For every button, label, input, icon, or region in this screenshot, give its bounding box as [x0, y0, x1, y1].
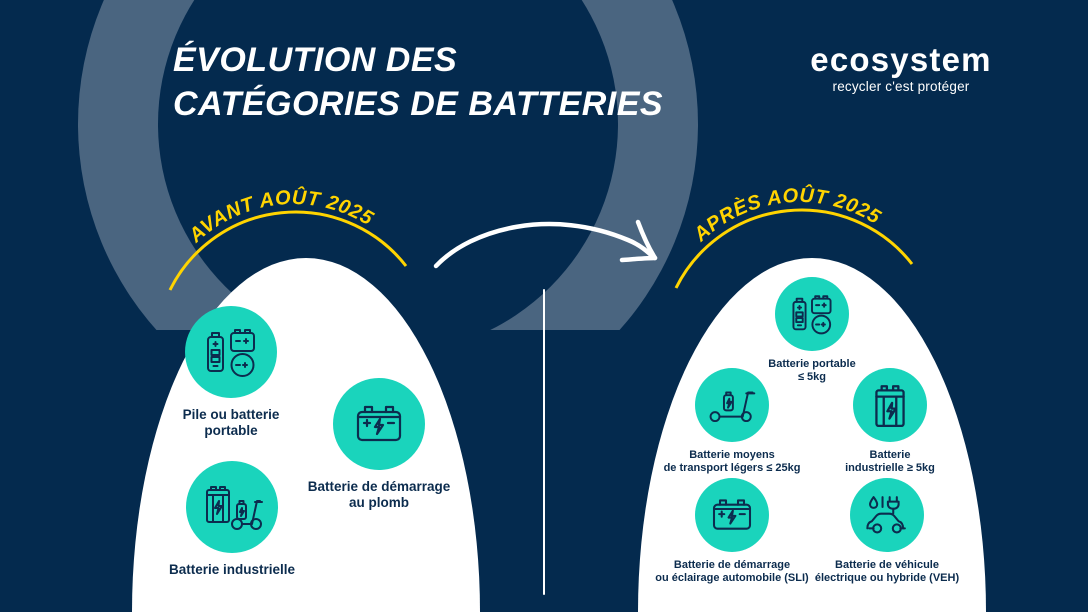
- category-label-line-2: portable: [163, 423, 299, 439]
- arc-label-before: AVANT AOÛT 2025: [156, 208, 456, 288]
- category-batterie-transport-leger: Batterie moyens de transport légers ≤ 25…: [654, 368, 810, 476]
- infographic-canvas: ÉVOLUTION DES CATÉGORIES DE BATTERIES ec…: [0, 0, 1088, 612]
- category-label-line-1: Batterie: [830, 449, 950, 462]
- category-pile-batterie-portable: Pile ou batterie portable: [163, 306, 299, 440]
- category-batterie-industrielle: Batterie industrielle: [152, 461, 312, 578]
- vertical-divider: [543, 289, 545, 595]
- category-label: Batterie moyens de transport légers ≤ 25…: [654, 449, 810, 476]
- category-label: Batterie de démarrage ou éclairage autom…: [652, 559, 812, 586]
- category-label-line-1: Batterie industrielle: [152, 562, 312, 578]
- category-label-line-2-prefix: électrique ou hybride: [815, 572, 929, 584]
- category-label-line-2-prefix: ou éclairage automobile: [655, 572, 784, 584]
- category-label: Pile ou batterie portable: [163, 407, 299, 440]
- industrial-battery-scooter-icon: [186, 461, 278, 553]
- category-label-line-1: Batterie de véhicule: [812, 559, 962, 572]
- brand-logo: ecosystem recycler c'est protéger: [786, 42, 1016, 96]
- page-title: ÉVOLUTION DES CATÉGORIES DE BATTERIES: [173, 38, 733, 126]
- portable-battery-icon: [185, 306, 277, 398]
- category-label-line-1: Batterie de démarrage: [288, 479, 470, 495]
- category-label-line-1: Pile ou batterie: [163, 407, 299, 423]
- car-battery-icon: [695, 478, 769, 552]
- category-label-line-2-bold: (VEH): [929, 572, 959, 584]
- title-line-2: CATÉGORIES DE BATTERIES: [173, 82, 733, 126]
- category-batterie-demarrage-plomb: Batterie de démarrage au plomb: [288, 378, 470, 512]
- category-label-line-2-bold: (SLI): [784, 572, 808, 584]
- title-line-1: ÉVOLUTION DES: [173, 41, 457, 79]
- category-label-line-2: au plomb: [349, 495, 409, 510]
- category-label-line-2-bold: ≥ 5kg: [907, 462, 935, 474]
- category-label-line-1: Batterie moyens: [654, 449, 810, 462]
- category-label-line-2-bold: ≤ 25kg: [766, 462, 800, 474]
- category-label: Batterie industrielle: [152, 562, 312, 578]
- logo-tagline: recycler c'est protéger: [786, 78, 1016, 96]
- category-label: Batterie industrielle ≥ 5kg: [830, 449, 950, 476]
- car-battery-icon: [333, 378, 425, 470]
- category-batterie-industrielle-5kg: Batterie industrielle ≥ 5kg: [830, 368, 950, 476]
- curved-arrow-icon: [432, 202, 682, 272]
- category-label: Batterie de véhicule électrique ou hybri…: [812, 559, 962, 586]
- category-label-line-2-prefix: de transport légers: [664, 462, 767, 474]
- logo-wordmark: ecosystem: [786, 42, 1016, 78]
- category-label-line-1: Batterie de démarrage: [652, 559, 812, 572]
- category-batterie-demarrage-sli: Batterie de démarrage ou éclairage autom…: [652, 478, 812, 586]
- electric-car-icon: [850, 478, 924, 552]
- arc-label-after: APRÈS AOÛT 2025: [662, 208, 962, 288]
- industrial-battery-icon: [853, 368, 927, 442]
- category-batterie-vehicule-electrique: Batterie de véhicule électrique ou hybri…: [812, 478, 962, 586]
- scooter-icon: [695, 368, 769, 442]
- portable-battery-icon: [775, 277, 849, 351]
- category-label-line-2-prefix: industrielle: [845, 462, 907, 474]
- category-label: Batterie de démarrage au plomb: [288, 479, 470, 512]
